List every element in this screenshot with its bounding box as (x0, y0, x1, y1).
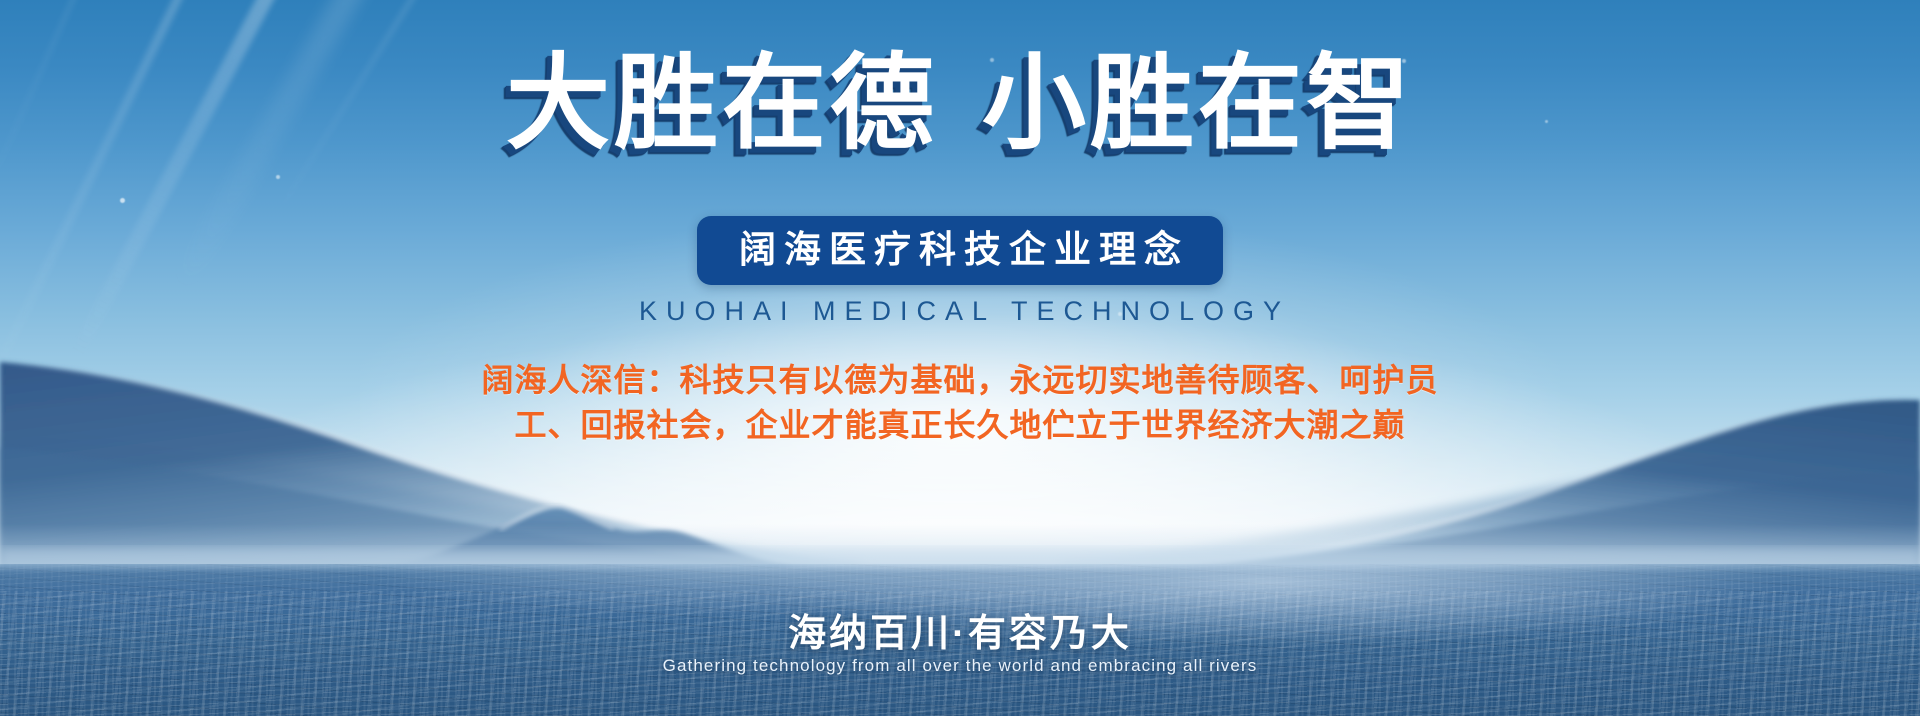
philosophy-statement: 阔海人深信：科技只有以德为基础，永远切实地善待顾客、呵护员 工、回报社会，企业才… (0, 358, 1920, 449)
page-title: 大胜在德小胜在智 (0, 46, 1920, 162)
company-philosophy-badge: 阔海医疗科技企业理念 (697, 216, 1223, 285)
headline-part-1: 大胜在德 (506, 46, 938, 162)
badge-container: 阔海医疗科技企业理念 (0, 216, 1920, 285)
footer-motto-chinese: 海纳百川·有容乃大 (0, 602, 1920, 657)
banner-content: 大胜在德小胜在智 阔海医疗科技企业理念 KUOHAI MEDICAL TECHN… (0, 0, 1920, 716)
headline-part-2: 小胜在智 (982, 46, 1414, 162)
company-name-english: KUOHAI MEDICAL TECHNOLOGY (0, 296, 1920, 327)
philosophy-line-1: 阔海人深信：科技只有以德为基础，永远切实地善待顾客、呵护员 (0, 358, 1920, 403)
footer-motto-english: Gathering technology from all over the w… (0, 656, 1920, 676)
philosophy-line-2: 工、回报社会，企业才能真正长久地伫立于世界经济大潮之巅 (0, 403, 1920, 448)
kuohai-banner: 大胜在德小胜在智 阔海医疗科技企业理念 KUOHAI MEDICAL TECHN… (0, 0, 1920, 716)
